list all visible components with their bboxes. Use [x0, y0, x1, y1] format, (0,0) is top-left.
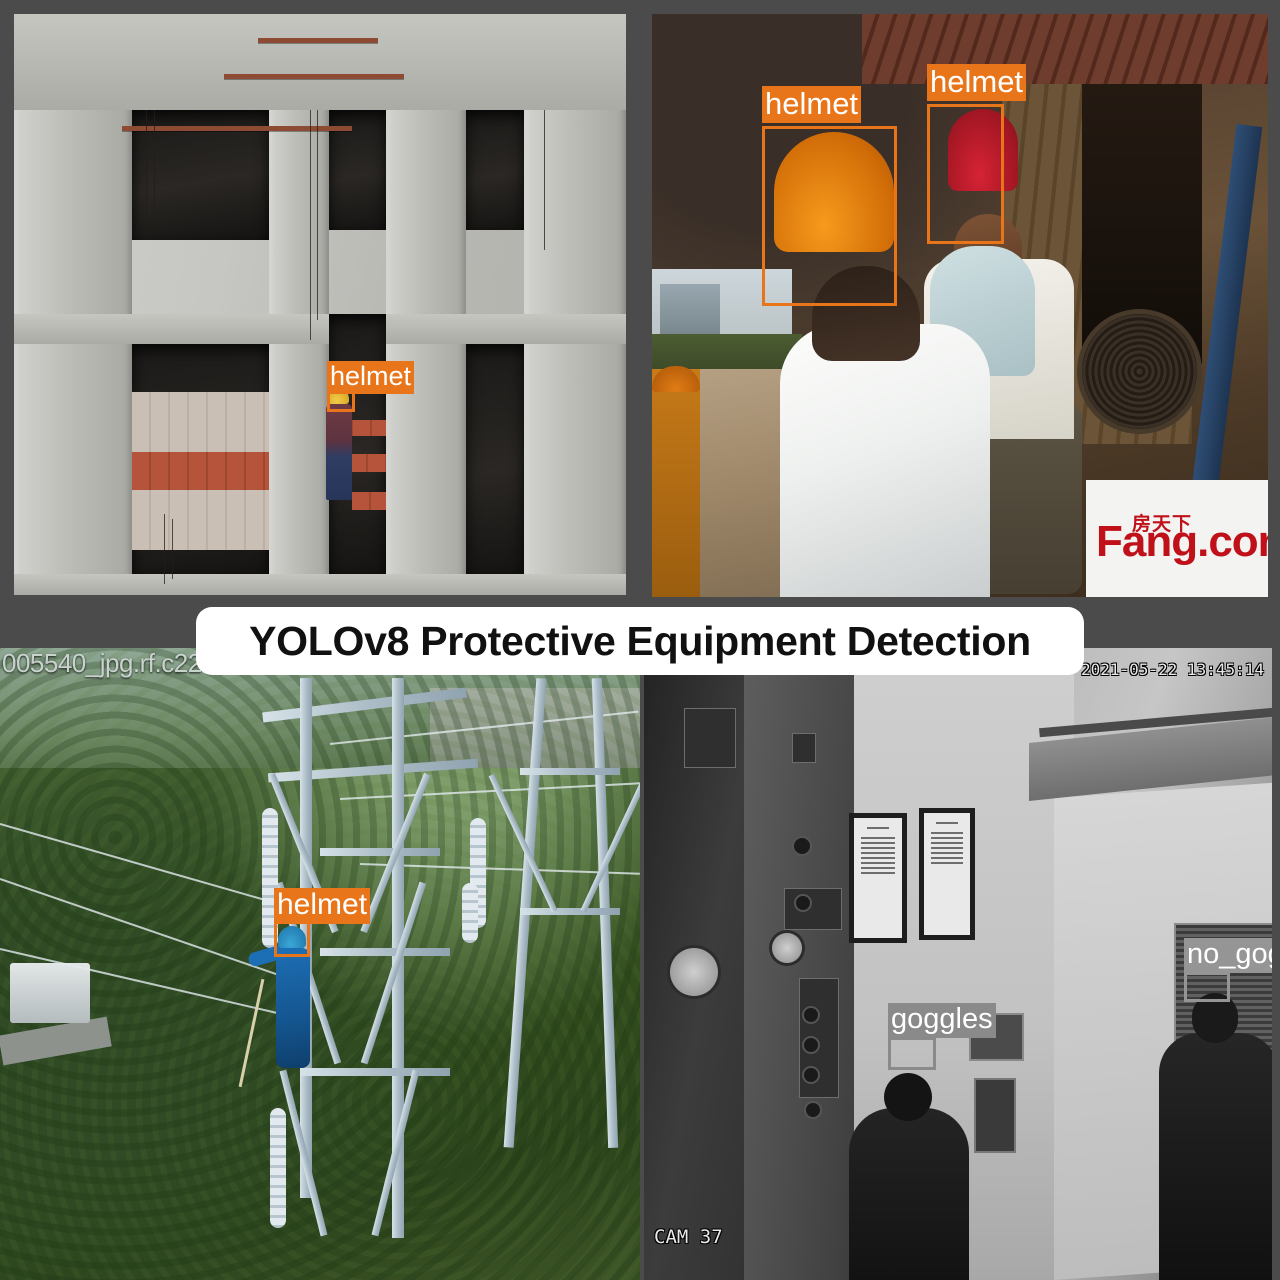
insulator-string: [270, 1108, 286, 1228]
panel-switch-block: [684, 708, 736, 768]
background-worker: [652, 369, 700, 597]
notice-text-line: [861, 837, 895, 839]
panel-switch-block: [784, 888, 842, 930]
notice-text-line: [861, 862, 895, 864]
panel-gauge: [772, 933, 802, 963]
page-title-badge: YOLOv8 Protective Equipment Detection: [196, 607, 1084, 675]
detection-label: helmet: [327, 361, 414, 394]
floor-slab: [14, 14, 626, 110]
page-title: YOLOv8 Protective Equipment Detection: [249, 618, 1031, 665]
notice-text-line: [861, 872, 895, 874]
detection-label: helmet: [274, 888, 370, 924]
machinery-wheel: [1082, 314, 1197, 429]
notice-text-line: [931, 847, 963, 849]
notice-text-line: [861, 867, 895, 869]
notice-text-line: [931, 832, 963, 834]
floor-slab: [14, 314, 626, 344]
scaffold-plank: [224, 74, 404, 79]
photo-transmission-tower: helmet: [0, 648, 640, 1280]
camera-id-overlay: CAM 37: [654, 1226, 723, 1248]
panel-top-left[interactable]: helmet: [0, 0, 640, 640]
rebar-strand: [310, 110, 311, 340]
floor-slab: [14, 574, 626, 595]
notice-text-line: [931, 862, 963, 864]
photo-construction-workers: 房天下 Fang.com helmet helmet: [652, 14, 1268, 597]
panel-bottom-left[interactable]: helmet: [0, 640, 640, 1280]
window-opening: [466, 344, 524, 574]
brick-infill-red: [132, 452, 269, 490]
notice-text-line: [861, 857, 895, 859]
insulator-string: [462, 883, 478, 943]
panel-knob[interactable]: [806, 1103, 820, 1117]
detection-label: no_goggle: [1184, 938, 1272, 973]
watermark-latin-text: Fang.com: [1096, 522, 1268, 562]
scaffold-plank: [258, 38, 378, 43]
foreground-worker-shirt: [780, 324, 990, 597]
notice-text-line: [931, 852, 963, 854]
panel-bottom-right[interactable]: 2021-05-22 13:45:14 CAM 37 goggles no_go…: [640, 640, 1280, 1280]
distant-buildings: [660, 284, 720, 339]
panel-knob[interactable]: [804, 1038, 818, 1052]
timestamp-overlay: 2021-05-22 13:45:14: [1081, 660, 1264, 679]
notice-text-line: [861, 847, 895, 849]
panel-knob[interactable]: [804, 1008, 818, 1022]
rebar-strand: [154, 110, 155, 220]
panel-knob[interactable]: [794, 838, 810, 854]
bounding-box: [888, 1037, 936, 1070]
panel-top-right[interactable]: 房天下 Fang.com helmet helmet: [640, 0, 1280, 640]
lineman-figure: [276, 948, 310, 1068]
worker-figure: [326, 404, 352, 500]
panel-gauge: [670, 948, 718, 996]
roof-beams: [862, 14, 1268, 84]
fang-com-watermark: 房天下 Fang.com: [1086, 480, 1268, 597]
tower-member: [320, 848, 440, 856]
brick-infill-red: [349, 454, 386, 472]
rebar-strand: [164, 514, 165, 584]
notice-text-line: [931, 857, 963, 859]
brick-infill-red: [352, 492, 386, 510]
worker-figure-left: [849, 1108, 969, 1280]
detection-label: helmet: [762, 86, 861, 123]
notice-text-line: [861, 842, 895, 844]
wall-device: [974, 1078, 1016, 1153]
bounding-box: [274, 921, 310, 957]
notice-text-line: [867, 827, 890, 829]
notice-text-line: [936, 822, 958, 824]
worker-head-left: [884, 1073, 932, 1121]
photo-construction-facade: helmet: [14, 14, 626, 595]
notice-text-line: [931, 837, 963, 839]
detection-label: helmet: [927, 64, 1026, 101]
wall-notice-board: [849, 813, 907, 943]
wall-notice-board: [919, 808, 975, 940]
window-opening: [466, 110, 524, 230]
brick-infill: [132, 490, 269, 550]
bounding-box: [1184, 972, 1230, 1002]
notice-text-line: [861, 852, 895, 854]
bounding-box: [927, 104, 1004, 244]
worker-figure-right: [1159, 1033, 1272, 1280]
rebar-strand: [544, 110, 545, 250]
village-houses: [10, 963, 90, 1023]
panel-switch-block: [792, 733, 816, 763]
tower-member: [520, 768, 620, 775]
panel-knob[interactable]: [796, 896, 810, 910]
rebar-strand: [146, 110, 147, 230]
tower-member: [320, 948, 450, 956]
detection-label: goggles: [888, 1003, 996, 1038]
rebar-strand: [172, 519, 173, 579]
notice-text-line: [931, 842, 963, 844]
brick-infill: [132, 392, 269, 452]
tower-member: [520, 908, 620, 915]
photo-cctv-control-room: 2021-05-22 13:45:14 CAM 37 goggles no_go…: [644, 648, 1272, 1280]
bounding-box: [762, 126, 897, 306]
panel-knob[interactable]: [804, 1068, 818, 1082]
tower-member: [300, 1068, 450, 1076]
panel-switch-block: [799, 978, 839, 1098]
rebar-strand: [317, 110, 318, 320]
foliage-texture: [0, 648, 640, 1280]
